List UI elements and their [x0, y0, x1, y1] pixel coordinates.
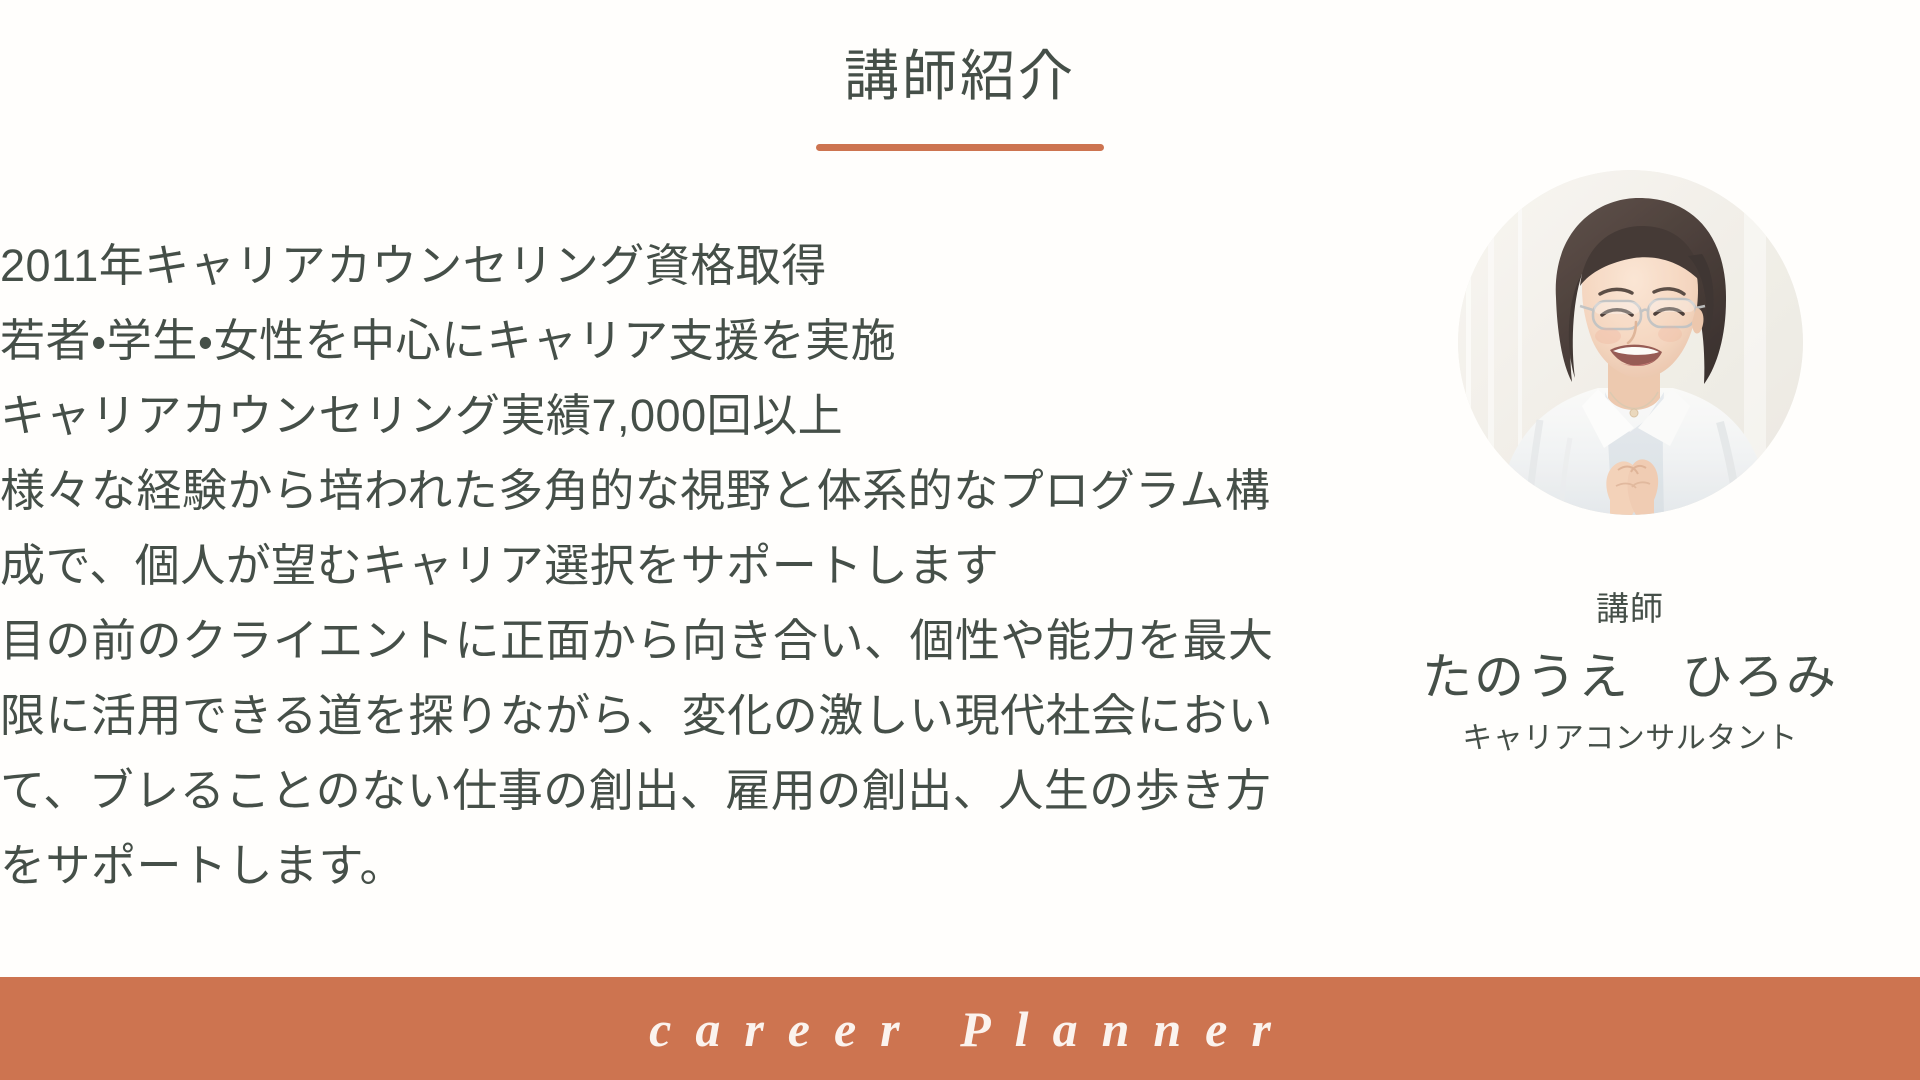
- bio-line: キャリアカウンセリング実績7,000回以上: [0, 378, 1330, 453]
- slide-header: 講師紹介: [0, 48, 1920, 151]
- bio-line: 限に活用できる道を探りながら、変化の激しい現代社会におい: [0, 678, 1330, 753]
- title-underline-rule: [816, 144, 1104, 151]
- bio-line: て、ブレることのない仕事の創出、雇用の創出、人生の歩き方: [0, 753, 1330, 828]
- bio-line: 目の前のクライエントに正面から向き合い、個性や能力を最大: [0, 603, 1330, 678]
- footer-brand-band: career Planner: [0, 977, 1920, 1080]
- brand-wordmark: career Planner: [625, 1000, 1295, 1058]
- instructor-qualification: キャリアコンサルタント: [1340, 721, 1920, 757]
- instructor-bio-block: 2011年キャリアカウンセリング資格取得 若者・学生・女性を中心にキャリア支援を…: [0, 228, 1330, 903]
- bio-line: 成で、個人が望むキャリア選択をサポートします: [0, 528, 1330, 603]
- bio-line: 若者・学生・女性を中心にキャリア支援を実施: [0, 303, 1330, 378]
- instructor-role-label: 講師: [1340, 589, 1920, 629]
- instructor-portrait-photo: [1458, 170, 1803, 515]
- instructor-profile-block: 講師 たのうえ ひろみ キャリアコンサルタント: [1340, 170, 1920, 757]
- bio-line: をサポートします。: [0, 828, 1330, 903]
- bio-line: 2011年キャリアカウンセリング資格取得: [0, 228, 1330, 303]
- instructor-name: たのうえ ひろみ: [1340, 647, 1920, 707]
- page-title: 講師紹介: [0, 48, 1920, 106]
- bio-line: 様々な経験から培われた多角的な視野と体系的なプログラム構: [0, 453, 1330, 528]
- slide-root: 講師紹介 2011年キャリアカウンセリング資格取得 若者・学生・女性を中心にキャ…: [0, 0, 1920, 1080]
